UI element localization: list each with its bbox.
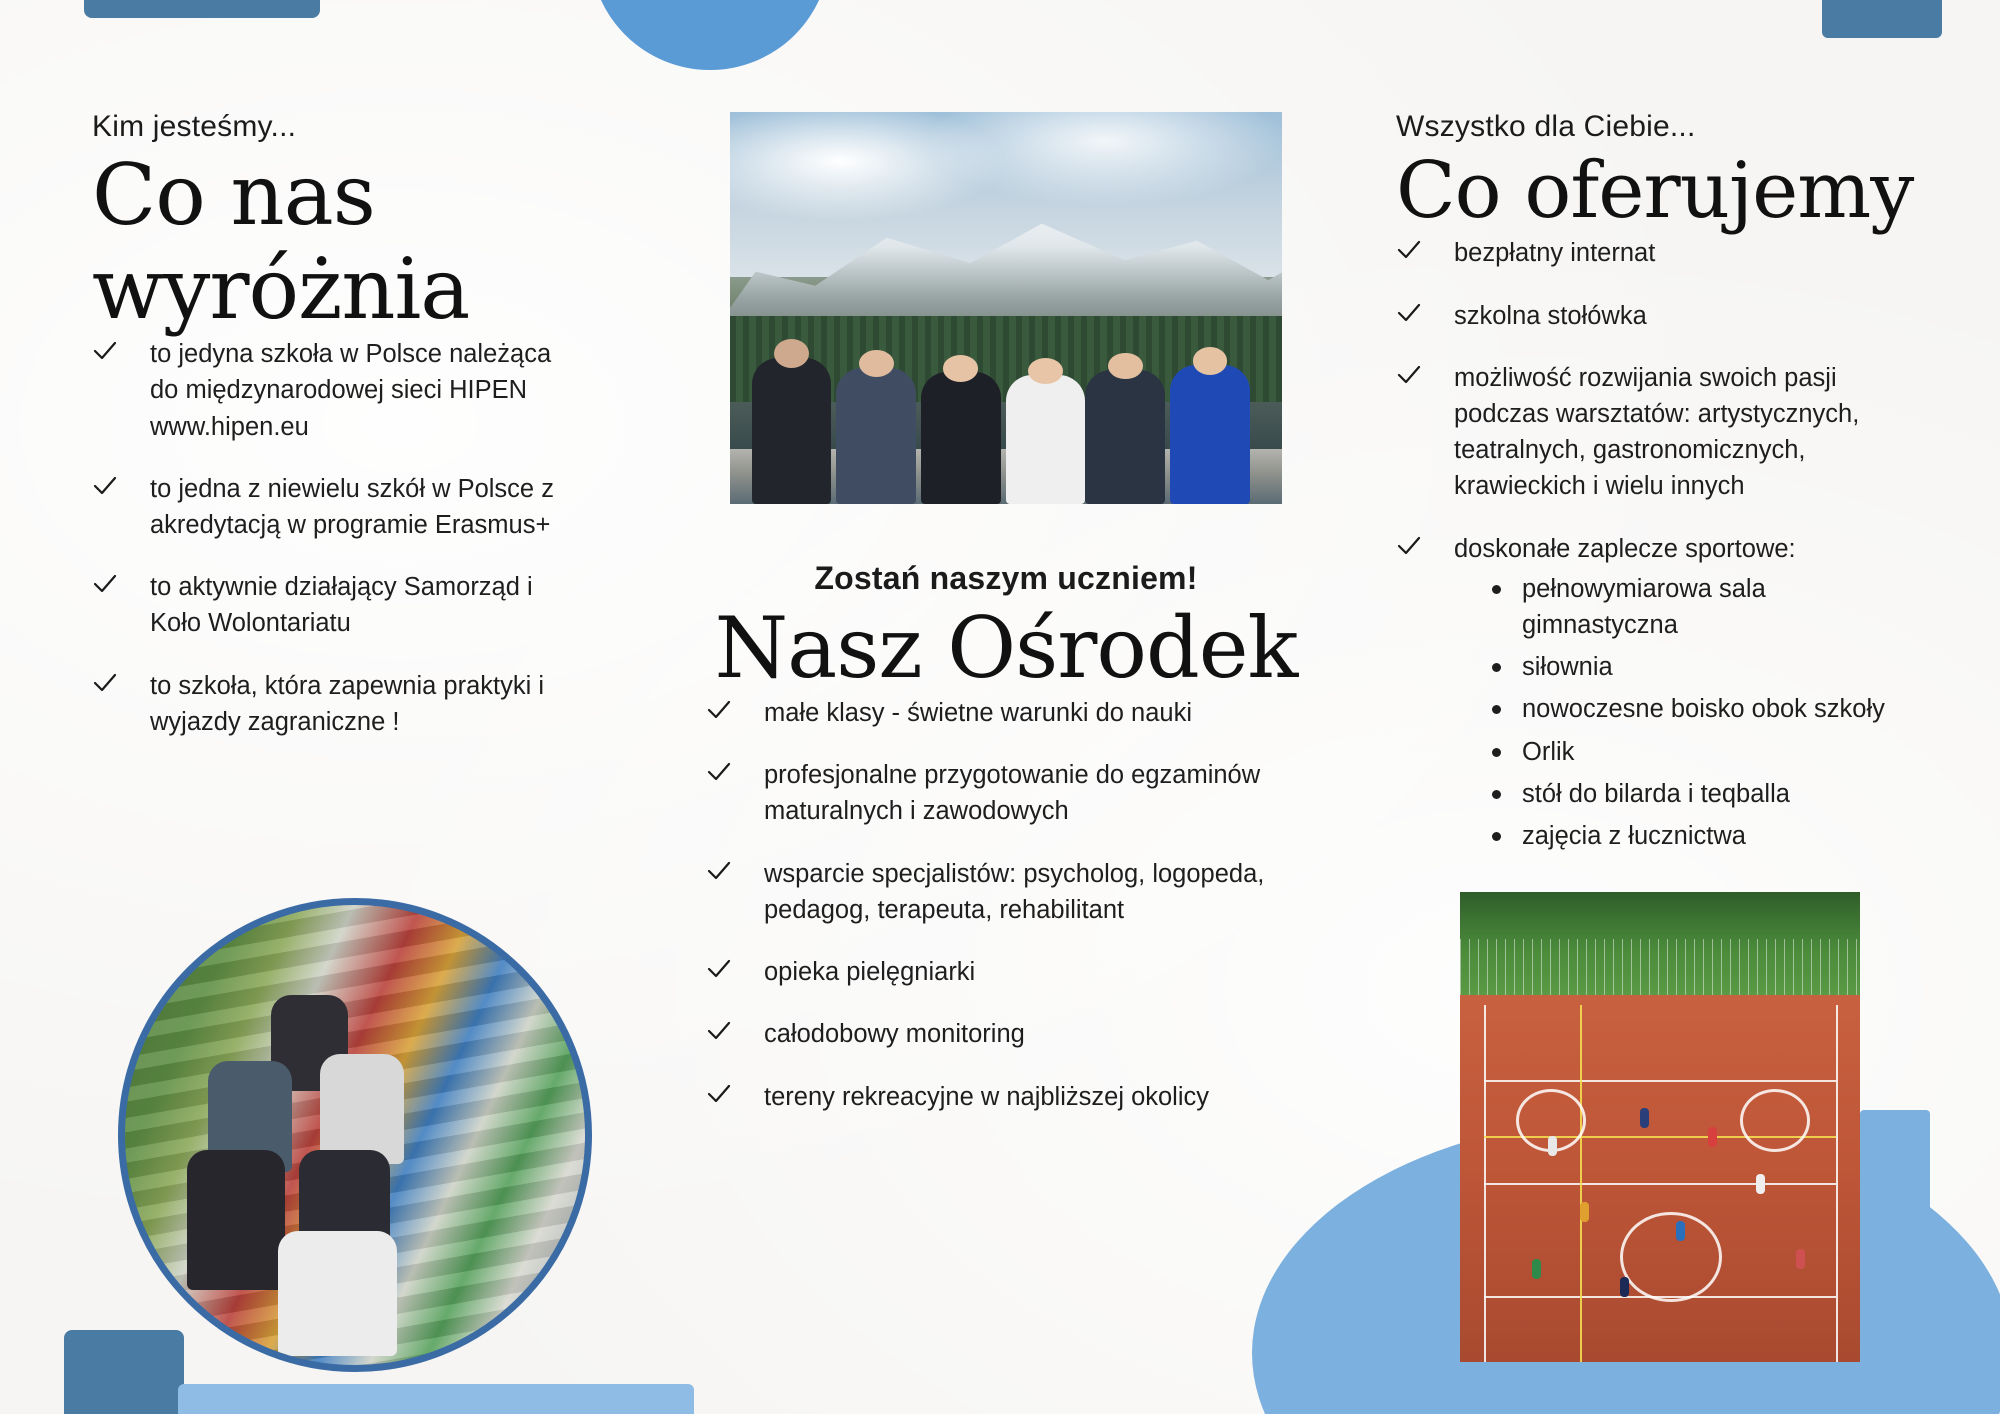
left-heading: Co nas wyróżnia [92, 148, 562, 336]
check-icon [706, 759, 732, 785]
list-item: małe klasy - świetne warunki do nauki [706, 695, 1306, 731]
left-bullet-list: to jedyna szkoła w Polsce należąca do mi… [92, 336, 562, 740]
list-item: zajęcia z łucznictwa [1488, 818, 1916, 854]
list-item: opieka pielęgniarki [706, 954, 1306, 990]
list-item: możliwość rozwijania swoich pasji podcza… [1396, 360, 1916, 505]
left-column: Kim jesteśmy... Co nas wyróżnia to jedyn… [92, 110, 562, 766]
sports-sublist: pełnowymiarowa sala gimnastyczna siłowni… [1454, 571, 1916, 854]
check-icon [706, 858, 732, 884]
list-item-label: małe klasy - świetne warunki do nauki [764, 699, 1192, 727]
decor-circle-top-middle [590, 0, 830, 70]
right-column: Wszystko dla Ciebie... Co oferujemy bezp… [1396, 110, 1916, 880]
list-item-label: opieka pielęgniarki [764, 958, 975, 986]
list-item-label: całodobowy monitoring [764, 1020, 1025, 1048]
list-item-label: bezpłatny internat [1454, 239, 1655, 267]
list-item: to jedyna szkoła w Polsce należąca do mi… [92, 336, 562, 445]
check-icon [706, 956, 732, 982]
check-icon [706, 1018, 732, 1044]
list-item-label: wsparcie specjalistów: psycholog, logope… [764, 860, 1264, 924]
list-item: siłownia [1488, 649, 1916, 685]
decor-rect-bottom-left-light [178, 1384, 694, 1414]
check-icon [92, 338, 118, 364]
sports-court-photo [1460, 892, 1860, 1362]
right-eyebrow: Wszystko dla Ciebie... [1396, 110, 1916, 144]
check-icon [1396, 362, 1422, 388]
list-item: to szkoła, która zapewnia praktyki i wyj… [92, 668, 562, 740]
stairs-group-photo [118, 898, 592, 1372]
decor-rect-top-right [1822, 0, 1942, 38]
check-icon [92, 473, 118, 499]
list-item: stół do bilarda i teqballa [1488, 776, 1916, 812]
check-icon [1396, 237, 1422, 263]
list-item: wsparcie specjalistów: psycholog, logope… [706, 856, 1306, 928]
list-item-label: to szkoła, która zapewnia praktyki i wyj… [150, 672, 544, 736]
list-item-label: profesjonalne przygotowanie do egzaminów… [764, 761, 1260, 825]
list-item: nowoczesne boisko obok szkoły [1488, 691, 1916, 727]
left-eyebrow: Kim jesteśmy... [92, 110, 562, 144]
list-item-label: możliwość rozwijania swoich pasji podcza… [1454, 364, 1859, 501]
list-item: to aktywnie działający Samorząd i Koło W… [92, 569, 562, 641]
list-item: szkolna stołówka [1396, 298, 1916, 334]
check-icon [706, 697, 732, 723]
check-icon [1396, 300, 1422, 326]
middle-eyebrow: Zostań naszym uczniem! [706, 560, 1306, 597]
list-item-label: to aktywnie działający Samorząd i Koło W… [150, 573, 533, 637]
decor-rect-top-left [84, 0, 320, 18]
left-heading-line1: Co nas [92, 146, 375, 244]
list-item-label: szkolna stołówka [1454, 302, 1647, 330]
mountains-group-photo [730, 112, 1282, 504]
decor-rect-right-edge [1860, 1110, 1930, 1370]
middle-heading: Nasz Ośrodek [706, 601, 1306, 695]
brochure-page: Kim jesteśmy... Co nas wyróżnia to jedyn… [0, 0, 2000, 1414]
list-item: tereny rekreacyjne w najbliższej okolicy [706, 1079, 1306, 1115]
list-item-label: doskonałe zaplecze sportowe: [1454, 535, 1796, 563]
right-bullet-list: bezpłatny internat szkolna stołówka możl… [1396, 235, 1916, 854]
middle-bullet-list: małe klasy - świetne warunki do nauki pr… [706, 695, 1306, 1115]
middle-column: Zostań naszym uczniem! Nasz Ośrodek małe… [706, 560, 1306, 1141]
list-item: to jedna z niewielu szkół w Polsce z akr… [92, 471, 562, 543]
list-item: doskonałe zaplecze sportowe: pełnowymiar… [1396, 531, 1916, 855]
list-item-label: to jedyna szkoła w Polsce należąca do mi… [150, 340, 551, 440]
check-icon [1396, 533, 1422, 559]
check-icon [706, 1081, 732, 1107]
list-item: profesjonalne przygotowanie do egzaminów… [706, 757, 1306, 829]
list-item-label: tereny rekreacyjne w najbliższej okolicy [764, 1083, 1209, 1111]
list-item-label: to jedna z niewielu szkół w Polsce z akr… [150, 475, 554, 539]
list-item: Orlik [1488, 734, 1916, 770]
check-icon [92, 670, 118, 696]
list-item: całodobowy monitoring [706, 1016, 1306, 1052]
list-item: pełnowymiarowa sala gimnastyczna [1488, 571, 1916, 643]
check-icon [92, 571, 118, 597]
right-heading: Co oferujemy [1396, 148, 1916, 235]
list-item: bezpłatny internat [1396, 235, 1916, 271]
left-heading-line2: wyróżnia [92, 240, 469, 338]
